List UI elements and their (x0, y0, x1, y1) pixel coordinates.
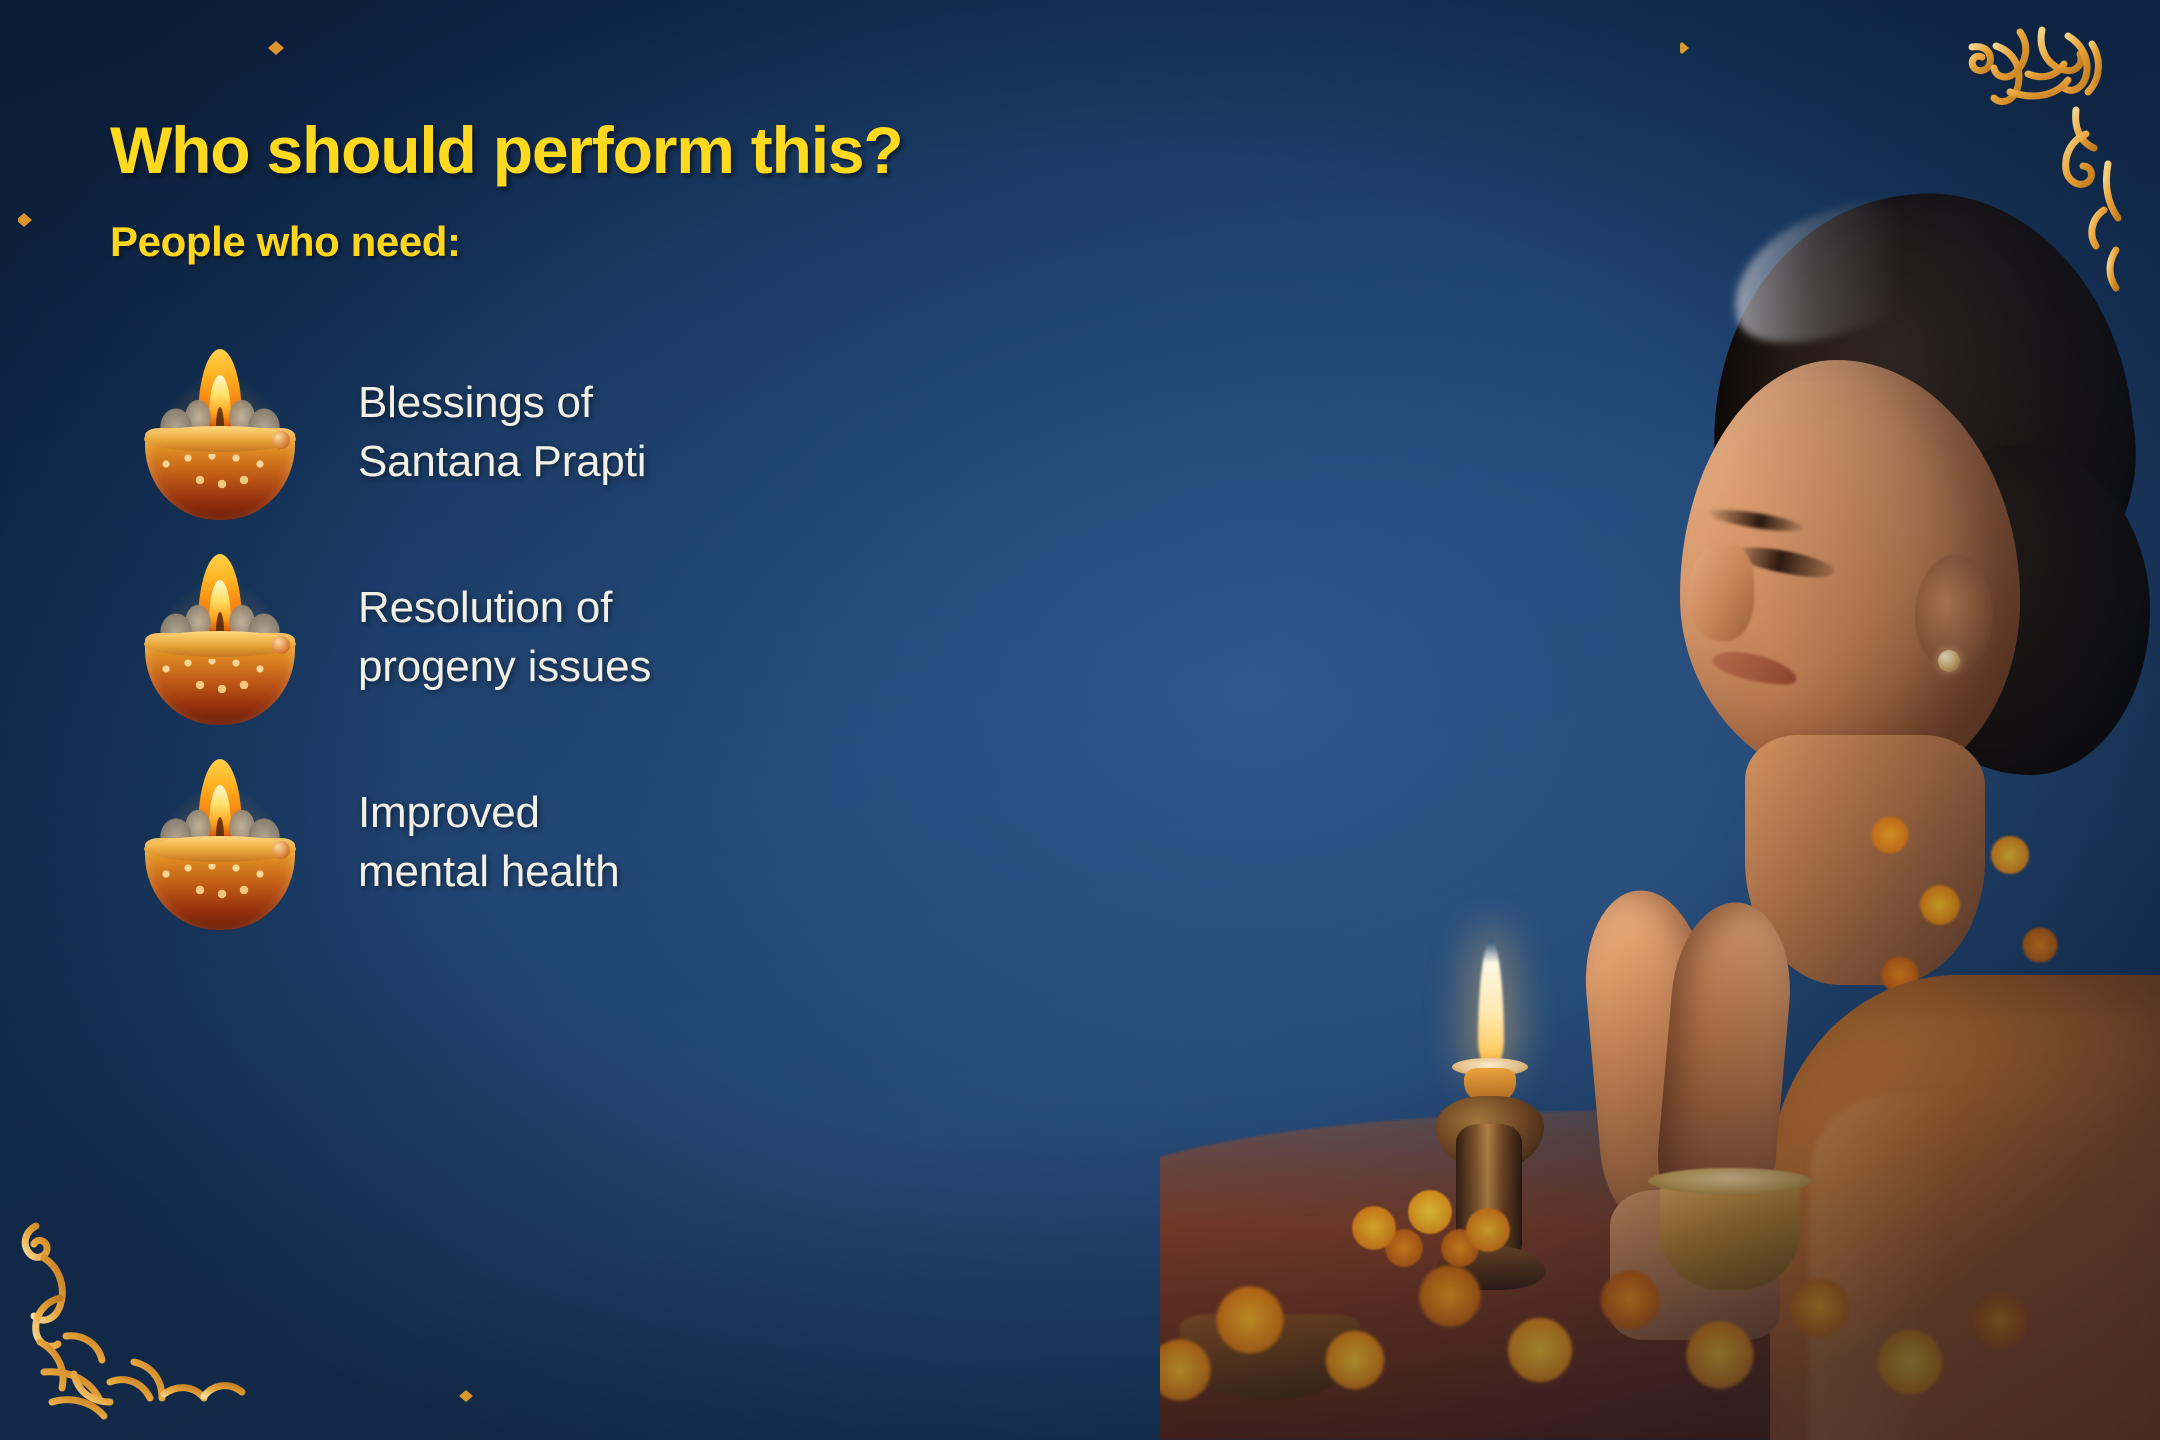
benefits-list: Blessings of Santana Prapti Re (140, 330, 920, 945)
earring (1938, 650, 1960, 672)
kalash-rim (1648, 1168, 1812, 1194)
benefit-text: Blessings of Santana Prapti (358, 374, 646, 491)
page-title: Who should perform this? (110, 112, 902, 188)
diya-lamp-icon (140, 550, 300, 725)
diya-dot-pattern (156, 454, 284, 498)
diya-lamp-icon (140, 755, 300, 930)
diya-bead (272, 431, 290, 449)
benefit-line-2: Santana Prapti (358, 433, 646, 492)
top-right-corner-ornament (1680, 14, 2150, 344)
diya-bead (272, 636, 290, 654)
list-item: Improved mental health (140, 740, 920, 945)
benefit-line-1: Improved (358, 784, 620, 843)
lamp-flame (1478, 940, 1504, 1068)
list-item: Resolution of progeny issues (140, 535, 920, 740)
slide-canvas: Who should perform this? People who need… (0, 0, 2160, 1440)
diya-dot-pattern (156, 864, 284, 908)
benefit-line-1: Blessings of (358, 374, 646, 433)
benefit-line-2: mental health (358, 843, 620, 902)
list-item: Blessings of Santana Prapti (140, 330, 920, 535)
diya-dot-pattern (156, 659, 284, 703)
marigold-flower-spread (1160, 1200, 2160, 1420)
section-subtitle: People who need: (110, 218, 461, 266)
diya-bead (272, 841, 290, 859)
benefit-text: Resolution of progeny issues (358, 579, 651, 696)
diya-lamp-icon (140, 345, 300, 520)
benefit-line-2: progeny issues (358, 638, 651, 697)
benefit-line-1: Resolution of (358, 579, 651, 638)
nose (1688, 545, 1754, 641)
benefit-text: Improved mental health (358, 784, 620, 901)
text-content-panel: Who should perform this? People who need… (0, 0, 1000, 1440)
